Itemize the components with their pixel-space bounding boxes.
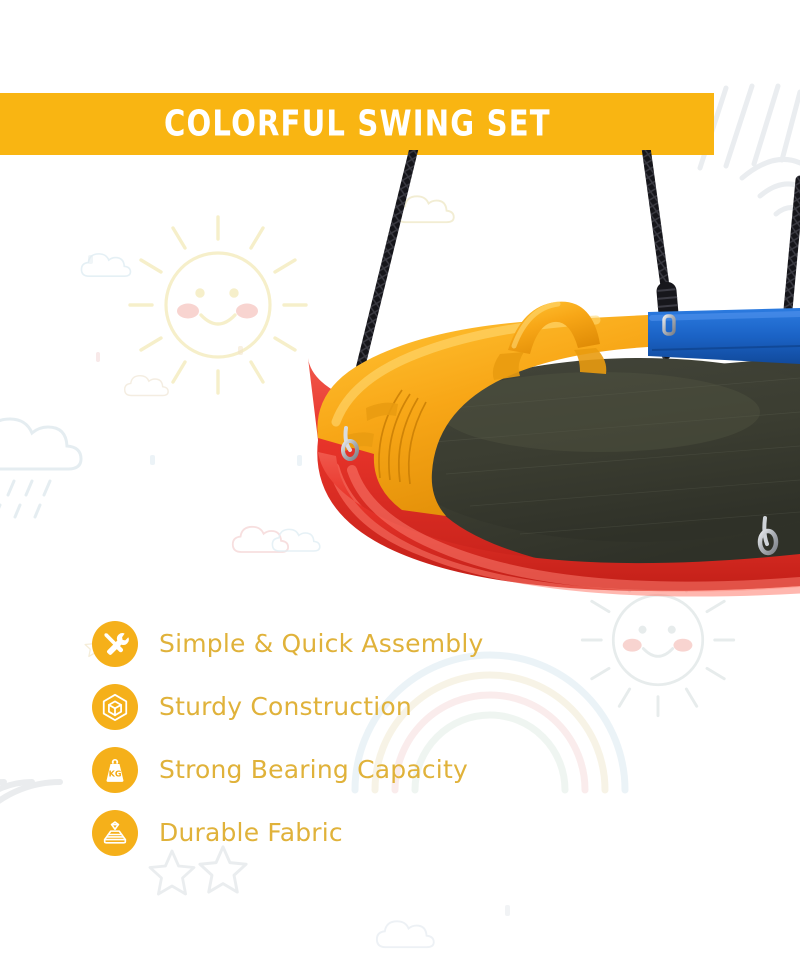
feature-badge-capacity: KG [92, 747, 138, 793]
swing-rim-blue [648, 308, 800, 364]
wrench-screwdriver-icon [100, 629, 130, 659]
feature-list: Simple & Quick Assembly Sturdy Co [92, 612, 612, 864]
page-title: COLORFUL SWING SET [164, 103, 551, 144]
feature-label-fabric: Durable Fabric [159, 818, 343, 847]
feature-label-construction: Sturdy Construction [159, 692, 412, 721]
cloud-doodle-5 [377, 921, 434, 947]
feature-badge-fabric [92, 810, 138, 856]
title-banner: COLORFUL SWING SET [0, 93, 714, 155]
fabric-layers-icon [99, 817, 131, 849]
feature-item-construction[interactable]: Sturdy Construction [92, 675, 612, 738]
feature-item-fabric[interactable]: Durable Fabric [92, 801, 612, 864]
weight-kg-icon: KG [100, 755, 130, 785]
feature-label-assembly: Simple & Quick Assembly [159, 629, 484, 658]
feature-item-assembly[interactable]: Simple & Quick Assembly [92, 612, 612, 675]
product-photo [0, 150, 800, 610]
feature-item-capacity[interactable]: KG Strong Bearing Capacity [92, 738, 612, 801]
rainbow-doodle-bottomleft [0, 782, 60, 890]
feature-label-capacity: Strong Bearing Capacity [159, 755, 468, 784]
weight-badge-text: KG [109, 769, 122, 778]
cube-box-icon [100, 692, 130, 722]
swing-illustration [0, 150, 800, 610]
product-marketing-image: COLORFUL SWING SET [0, 0, 800, 978]
feature-badge-construction [92, 684, 138, 730]
feature-badge-assembly [92, 621, 138, 667]
